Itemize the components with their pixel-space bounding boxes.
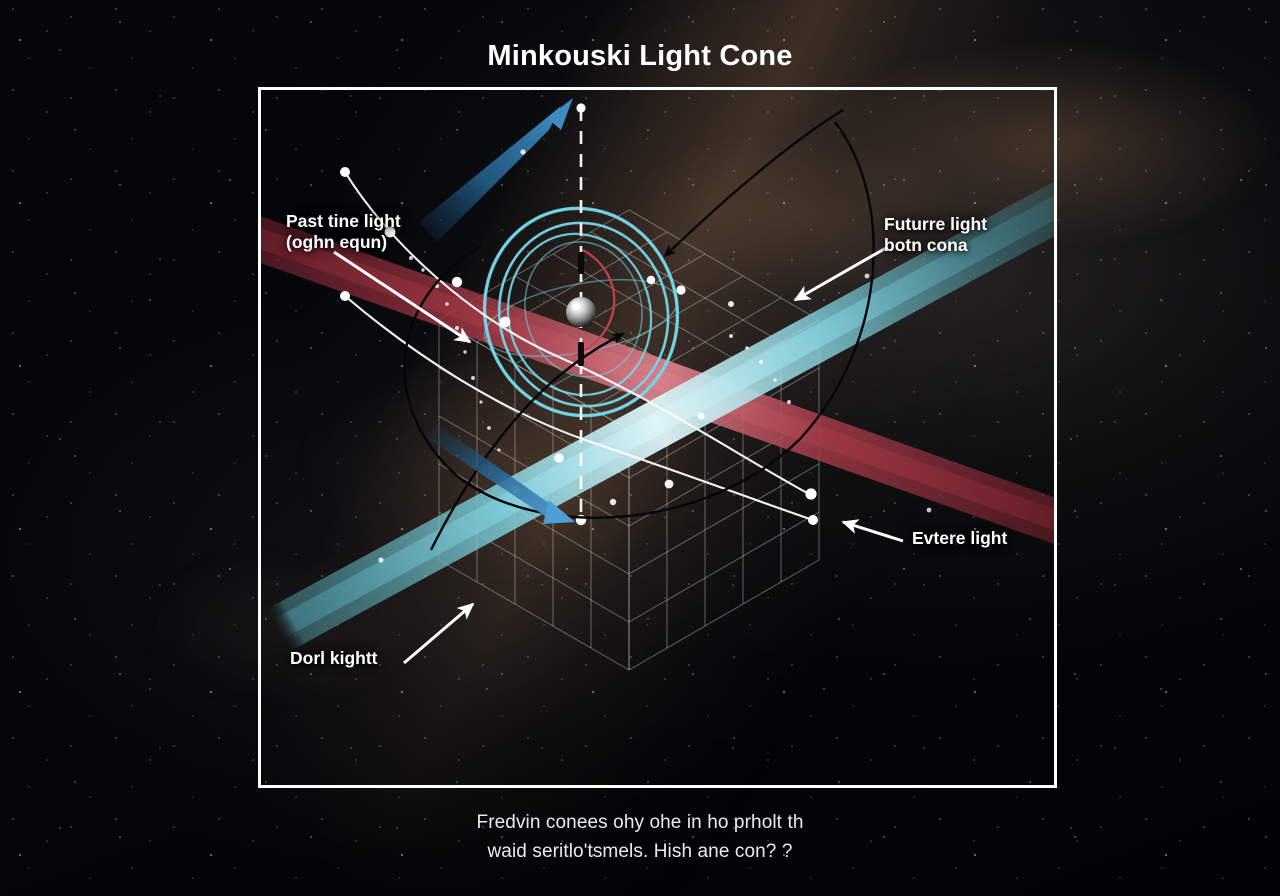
leader-past-light-cone	[334, 252, 470, 342]
figure-canvas: Minkouski Light Cone	[0, 0, 1280, 896]
leader-future-light-cone	[795, 248, 886, 300]
callout-event-light: Evtere light	[912, 528, 1007, 549]
caption-line-2: waid seritlo'tsmels. Hish ane con? ?	[0, 837, 1280, 866]
callout-past-light-cone: Past tine light (oghn equn)	[286, 211, 401, 254]
callout-future-light-cone: Futurre light botn cona	[884, 214, 987, 257]
leader-dorl-light	[404, 604, 473, 663]
leader-event-light	[843, 522, 903, 541]
figure-caption: Fredvin conees ohy ohe in ho prholt th w…	[0, 808, 1280, 867]
caption-line-1: Fredvin conees ohy ohe in ho prholt th	[0, 808, 1280, 837]
callout-leader-arrows	[0, 0, 1280, 896]
callout-dorl-light: Dorl kightt	[290, 648, 378, 669]
